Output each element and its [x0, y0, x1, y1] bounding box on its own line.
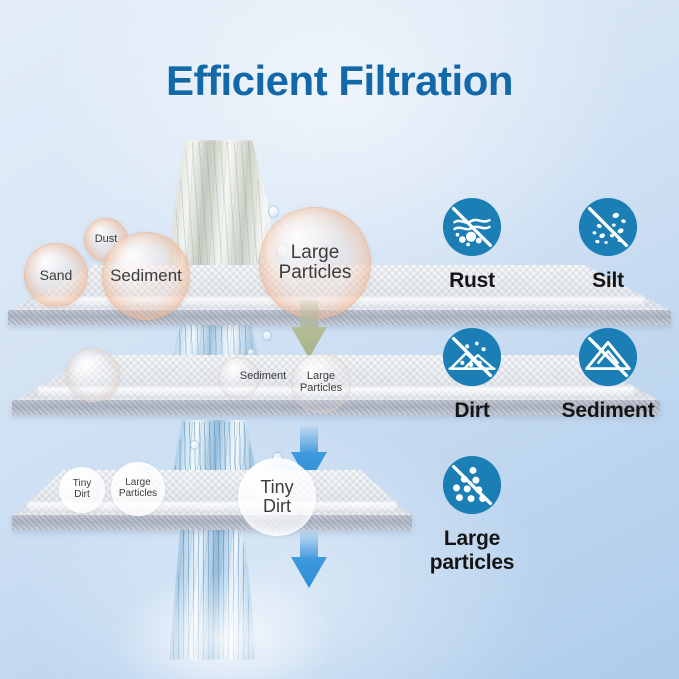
bubble-label: Large Particles [119, 478, 157, 499]
droplet [268, 205, 279, 218]
sediment-icon [577, 326, 639, 388]
icon-label-rust: Rust [404, 269, 540, 293]
arrow-shaft [300, 425, 318, 455]
bubble-label: Large Particles [279, 243, 352, 283]
filter-edge-band [12, 515, 412, 530]
bubble-empty-droplet [66, 348, 120, 402]
bubble-label: Large Particles [300, 371, 342, 394]
icon-cell-dirt[interactable]: Dirt [404, 326, 540, 423]
arrow-shaft [300, 300, 318, 330]
bubble-sand: Sand [24, 243, 88, 307]
icon-cell-rust[interactable]: Rust [404, 196, 540, 293]
label-sediment-layer2: Sediment [228, 371, 298, 383]
icon-label-large-particles: Large particles [404, 527, 540, 574]
icon-label-sediment: Sediment [540, 399, 676, 423]
bubble-large-particles-small: Large Particles [291, 353, 351, 413]
droplet [262, 330, 272, 341]
contaminant-icon-grid: Rust Silt [404, 196, 676, 576]
arrow-layer1-to-layer2 [291, 300, 327, 358]
icon-label-dirt: Dirt [404, 399, 540, 423]
bubble-label: Tiny Dirt [260, 478, 293, 516]
bubble-label: Sediment [110, 267, 182, 285]
icon-cell-sediment[interactable]: Sediment [540, 326, 676, 423]
silt-icon [577, 196, 639, 258]
arrow-shaft [300, 530, 318, 560]
droplet [190, 440, 199, 450]
dirt-icon [441, 326, 503, 388]
bubble-sediment: Sediment [102, 232, 190, 320]
bubble-large-particles-tiny: Large Particles [111, 462, 165, 516]
icon-cell-large-particles[interactable]: Large particles [404, 454, 540, 574]
bubble-tiny-dirt-large: Tiny Dirt [238, 458, 316, 536]
large-particles-icon [441, 454, 503, 516]
page-title: Efficient Filtration [0, 57, 679, 105]
filtration-infographic: Efficient Filtration Dust Sand Sediment … [0, 0, 679, 679]
bubble-label: Tiny Dirt [73, 479, 92, 500]
rust-icon [441, 196, 503, 258]
icon-cell-silt[interactable]: Silt [540, 196, 676, 293]
icon-label-silt: Silt [540, 269, 676, 293]
arrow-layer3-outflow [291, 530, 327, 588]
bubble-tiny-dirt-small: Tiny Dirt [59, 467, 105, 513]
bubble-label: Sand [40, 268, 73, 283]
arrow-head [291, 557, 327, 588]
